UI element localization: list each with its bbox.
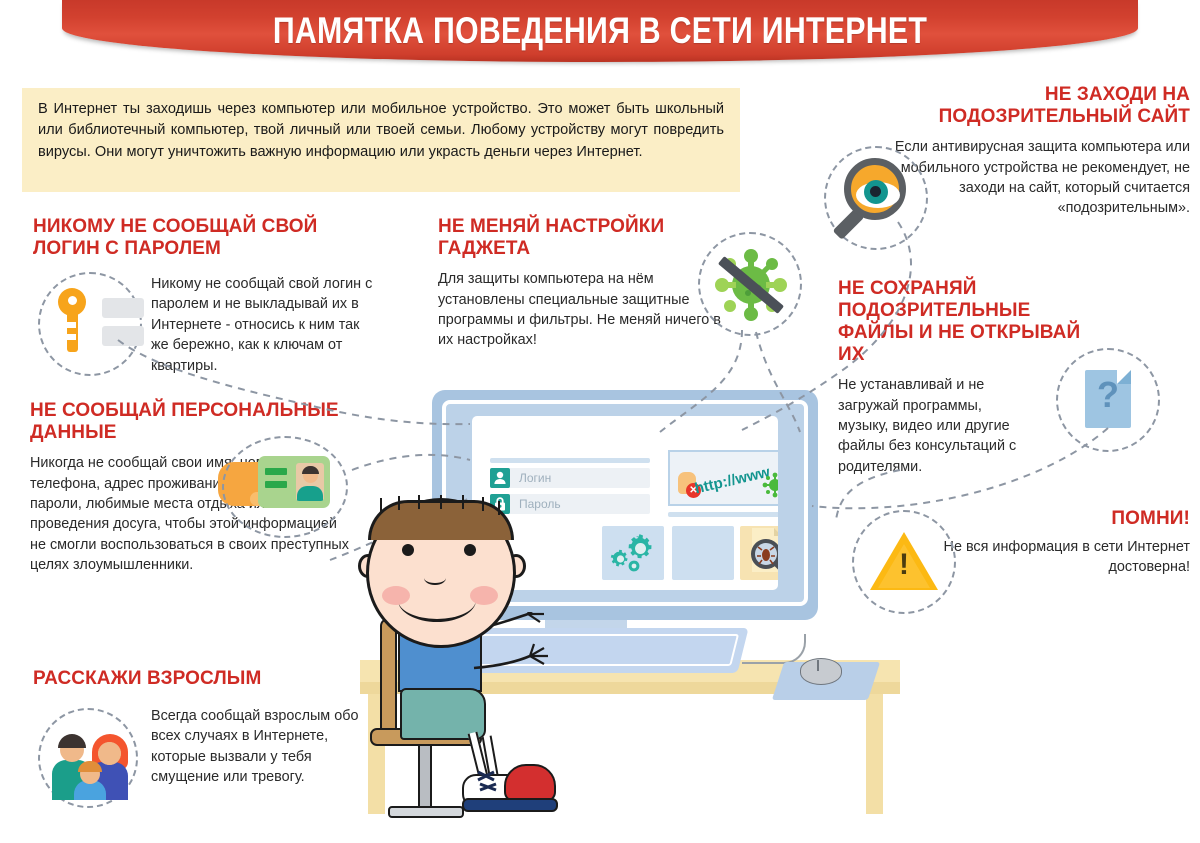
password-field-placeholder <box>102 326 144 346</box>
browser-panel-rule <box>668 512 778 517</box>
section-heading-tell-adults: РАССКАЖИ ВЗРОСЛЫМ <box>33 668 373 690</box>
chair-pole <box>418 744 432 810</box>
poster-header-banner: ПАМЯТКА ПОВЕДЕНИЯ В СЕТИ ИНТЕРНЕТ <box>62 0 1138 62</box>
boy-shoe-sole <box>462 798 558 812</box>
unknown-file-icon: ? <box>1085 370 1131 428</box>
section-heading-suspicious-site: НЕ ЗАХОДИ НА ПОДОЗРИТЕЛЬНЫЙ САЙТ <box>880 84 1190 128</box>
mouse[interactable] <box>800 658 842 685</box>
icon-bubble-personal-data <box>222 436 348 538</box>
eye-pupil <box>870 186 881 197</box>
intro-paragraph: В Интернет ты заходишь через компьютер и… <box>38 99 724 163</box>
warning-exclamation: ! <box>870 550 938 580</box>
intro-text-box: В Интернет ты заходишь через компьютер и… <box>22 88 740 192</box>
section-body-login-password: Никому не сообщай свой логин с паролем и… <box>151 274 381 376</box>
file-question-mark: ? <box>1085 377 1131 413</box>
section-heading-gadget-settings: НЕ МЕНЯЙ НАСТРОЙКИ ГАДЖЕТА <box>438 216 738 260</box>
desk-leg <box>866 694 883 814</box>
chair-backrest <box>380 618 397 736</box>
virus-blocked-icon <box>712 246 790 324</box>
warning-triangle-icon: ! <box>870 532 938 590</box>
boy-smile <box>398 578 476 622</box>
section-body-suspicious-files: Не устанавливай и не загружай программы,… <box>838 375 1034 477</box>
key-and-fields-icon <box>58 288 164 358</box>
section-body-tell-adults: Всегда сообщай взрослым обо всех случаях… <box>151 706 376 788</box>
magnifier-eye-icon <box>838 158 916 242</box>
url-text: http://www <box>693 464 772 498</box>
settings-tile[interactable] <box>602 526 664 580</box>
section-heading-login-password: НИКОМУ НЕ СООБЩАЙ СВОЙ ЛОГИН С ПАРОЛЕМ <box>33 216 373 260</box>
blank-tile[interactable] <box>672 526 734 580</box>
section-body-gadget-settings: Для защиты компьютера на нём установлены… <box>438 269 738 351</box>
section-gadget-settings: НЕ МЕНЯЙ НАСТРОЙКИ ГАДЖЕТА Для защиты ко… <box>438 216 738 351</box>
family-icon <box>52 718 128 800</box>
form-top-rule <box>490 458 650 463</box>
shoelaces <box>472 766 532 796</box>
page-title: ПАМЯТКА ПОВЕДЕНИЯ В СЕТИ ИНТЕРНЕТ <box>273 10 927 52</box>
login-field-placeholder <box>102 298 144 318</box>
key-tooth <box>67 322 76 328</box>
scan-tile[interactable] <box>740 526 778 580</box>
mouse-button-split <box>817 660 819 671</box>
login-field-row[interactable]: Логин <box>490 468 551 488</box>
section-heading-personal-data: НЕ СООБЩАЙ ПЕРСОНАЛЬНЫЕ ДАННЫЕ <box>30 400 410 444</box>
hair-tick <box>462 495 464 509</box>
browser-preview-panel[interactable]: ✕ http://www <box>668 450 778 506</box>
section-heading-remember: ПОМНИ! <box>940 508 1190 530</box>
hair-tick <box>440 495 442 509</box>
boy-eye-right <box>464 544 476 556</box>
section-remember: ПОМНИ! Не вся информация в сети Интернет… <box>940 508 1190 578</box>
file-shape: ? <box>1085 370 1131 428</box>
password-field-label: Пароль <box>519 497 561 511</box>
section-login-password: НИКОМУ НЕ СООБЩАЙ СВОЙ ЛОГИН С ПАРОЛЕМ Н… <box>33 216 373 260</box>
chair-foot <box>388 806 464 818</box>
hair-tick <box>380 498 382 512</box>
section-body-remember: Не вся информация в сети Интернет достов… <box>940 537 1190 578</box>
mother-face <box>98 742 121 765</box>
father-hair <box>58 734 86 748</box>
hair-tick <box>498 501 500 515</box>
user-icon <box>490 468 510 488</box>
section-suspicious-files: НЕ СОХРАНЯЙ ПОДОЗРИТЕЛЬНЫЕ ФАЙЛЫ И НЕ ОТ… <box>838 278 1088 477</box>
mouse-cord <box>742 634 806 664</box>
key-stem <box>67 310 78 352</box>
boy-cheek-right <box>470 586 498 605</box>
login-field-label: Логин <box>519 471 551 485</box>
gears-icon <box>602 526 664 580</box>
boy-hair <box>366 494 516 548</box>
boy-eye-left <box>402 544 414 556</box>
magnifier-bug-icon <box>740 526 778 580</box>
section-tell-adults: РАССКАЖИ ВЗРОСЛЫМ Всегда сообщай взрослы… <box>33 668 373 690</box>
key-hole <box>68 296 77 305</box>
infographic-poster: ПАМЯТКА ПОВЕДЕНИЯ В СЕТИ ИНТЕРНЕТ В Инте… <box>0 0 1200 843</box>
key-tooth <box>67 334 76 340</box>
hair-tick <box>398 496 400 510</box>
section-heading-suspicious-files: НЕ СОХРАНЯЙ ПОДОЗРИТЕЛЬНЫЕ ФАЙЛЫ И НЕ ОТ… <box>838 278 1088 366</box>
hair-tick <box>482 497 484 511</box>
virus-icon <box>762 472 778 498</box>
hair-tick <box>418 495 420 509</box>
boy-cheek-left <box>382 586 410 605</box>
